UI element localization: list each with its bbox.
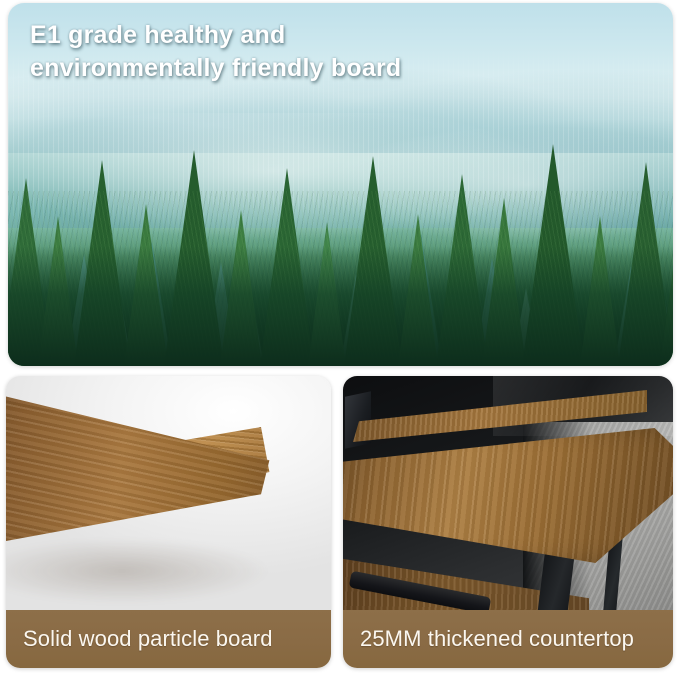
caption-bar-right: 25MM thickened countertop — [343, 610, 673, 668]
caption-label-left: Solid wood particle board — [6, 626, 273, 652]
caption-bar-left: Solid wood particle board — [6, 610, 331, 668]
slab-drop-shadow — [6, 526, 326, 612]
hero-forest-banner: E1 grade healthy and environmentally fri… — [8, 3, 673, 366]
wood-slab-photo — [6, 376, 331, 612]
hero-title: E1 grade healthy and environmentally fri… — [30, 19, 550, 85]
wood-slab — [6, 376, 331, 612]
panel-thickened-countertop: 25MM thickened countertop — [343, 376, 673, 668]
dark-forest-floor — [8, 246, 673, 366]
panel-solid-wood-particle-board: Solid wood particle board — [6, 376, 331, 668]
countertop-photo — [343, 376, 673, 612]
caption-label-right: 25MM thickened countertop — [343, 626, 634, 652]
